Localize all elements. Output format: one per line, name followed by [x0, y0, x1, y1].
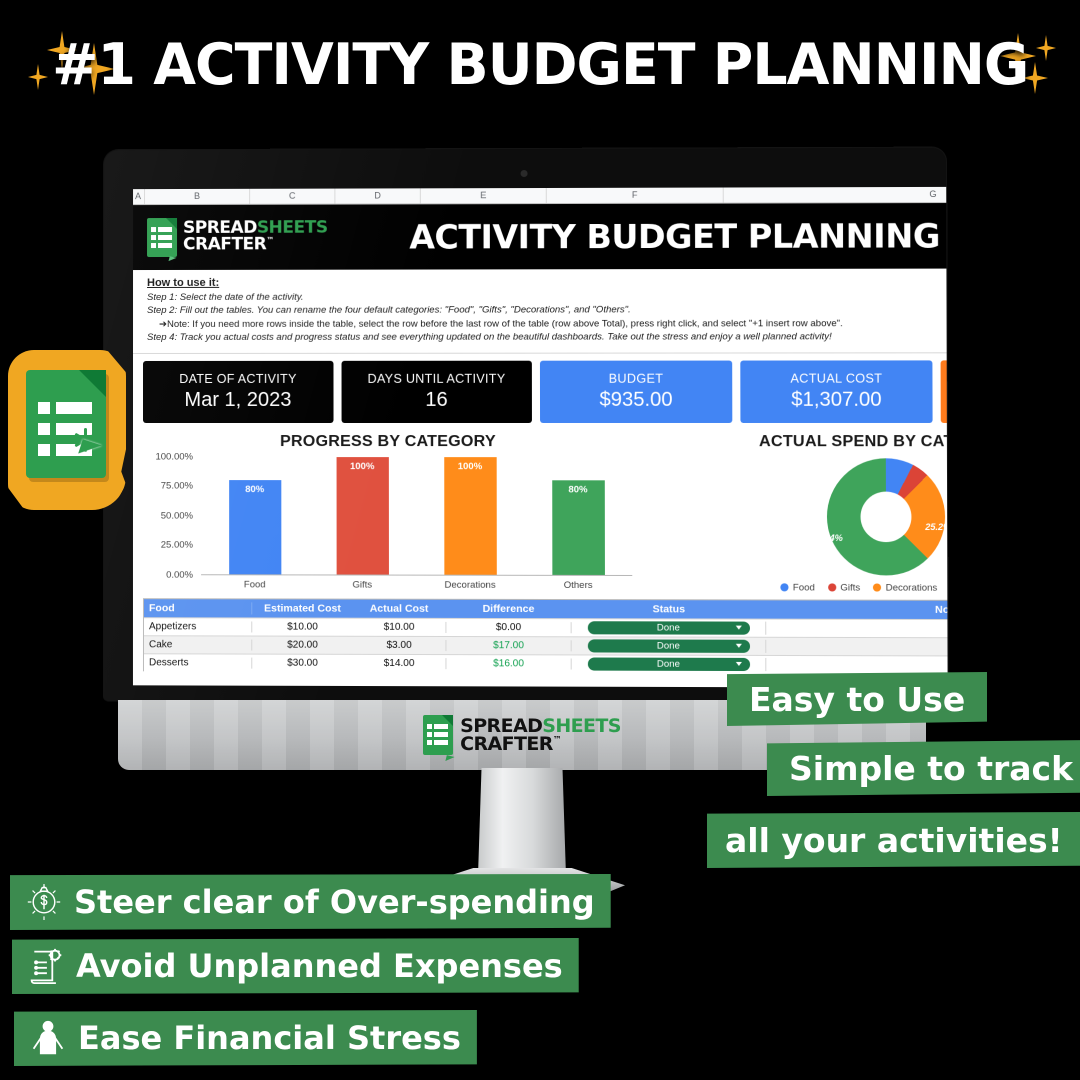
cursor-icon — [446, 755, 455, 763]
y-tick-75: 75.00% — [161, 481, 193, 492]
column-header-a[interactable]: A — [133, 189, 145, 204]
legend-swatch-icon — [873, 584, 881, 592]
cell-status[interactable]: Done — [572, 621, 767, 635]
kpi-value: 16 — [425, 389, 447, 412]
status-dropdown[interactable]: Done — [587, 639, 749, 653]
legend-label: Gifts — [840, 582, 860, 593]
cell-notes[interactable] — [766, 664, 947, 665]
bar-decorations[interactable]: 100% — [444, 457, 497, 575]
banner-text: Avoid Unplanned Expenses — [76, 947, 563, 985]
kpi-row: DATE OF ACTIVITY Mar 1, 2023 DAYS UNTIL … — [133, 353, 948, 431]
legend-swatch-icon — [781, 584, 789, 592]
progress-by-category-chart: PROGRESS BY CATEGORY 0.00% 25.00% 50.00%… — [145, 433, 632, 593]
banner-steer-clear-of-overspending: Steer clear of Over-spending — [10, 874, 611, 930]
cell-status[interactable]: Done — [572, 657, 767, 671]
column-header-c[interactable]: C — [250, 189, 335, 204]
banner-easy-to-use: Easy to Use — [727, 672, 987, 726]
instruction-step-1: Step 1: Select the date of the activity. — [147, 289, 948, 304]
bar-chart-x-axis: Food Gifts Decorations Others — [201, 579, 632, 591]
money-bag-icon — [26, 882, 62, 922]
actual-spend-by-category-chart: ACTUAL SPEND BY CATEGORY 25.2% 62.4% Foo… — [640, 433, 948, 594]
cursor-icon — [169, 256, 177, 263]
y-tick-25: 25.00% — [161, 540, 193, 551]
banner-text: Steer clear of Over-spending — [74, 883, 595, 921]
beer-mugs-icon: 🍻 — [946, 223, 948, 254]
chart-title: ACTUAL SPEND BY CATEGORY — [640, 433, 948, 451]
cell-actual[interactable]: $14.00 — [353, 658, 446, 669]
bar-gifts[interactable]: 100% — [336, 457, 388, 574]
kpi-value: Mar 1, 2023 — [184, 389, 291, 412]
kpi-label: BUDGET — [609, 372, 664, 386]
page-title: ACTIVITY BUDGET PLANNING🍻 — [328, 216, 948, 257]
legend-label: Decorations — [886, 582, 938, 593]
chevron-down-icon — [735, 626, 741, 630]
banner-all-your-activities: all your activities! — [707, 812, 1080, 868]
chart-title: PROGRESS BY CATEGORY — [145, 433, 632, 451]
cell-actual[interactable]: $10.00 — [353, 622, 446, 633]
kpi-label: ACTUAL COST — [790, 371, 882, 385]
column-header-difference[interactable]: Difference — [445, 603, 571, 615]
column-header-d[interactable]: D — [335, 188, 420, 203]
relaxed-person-icon — [30, 1018, 66, 1058]
logo-text-crafter: CRAFTER — [460, 733, 553, 755]
column-header-status[interactable]: Status — [572, 603, 767, 616]
logo-text-sheets: SHEETS — [542, 715, 621, 737]
banner-avoid-unplanned-expenses: Avoid Unplanned Expenses — [12, 938, 579, 994]
kpi-date-of-activity[interactable]: DATE OF ACTIVITY Mar 1, 2023 — [143, 361, 333, 423]
chevron-down-icon — [735, 662, 741, 666]
monitor-neck — [478, 768, 566, 876]
floating-sheets-badge — [8, 350, 126, 510]
trademark-symbol: ™ — [553, 736, 561, 746]
cell-difference[interactable]: $16.00 — [445, 658, 571, 669]
x-tick-food: Food — [229, 579, 281, 590]
bar-wrap-food: 80% — [229, 457, 281, 574]
bar-value-label: 80% — [229, 484, 281, 495]
cell-notes[interactable] — [766, 628, 947, 629]
cell-difference[interactable]: $0.00 — [445, 622, 571, 633]
cell-estimated[interactable]: $10.00 — [252, 621, 353, 632]
cell-category[interactable]: Desserts — [144, 657, 252, 668]
status-label: Done — [657, 640, 680, 651]
column-header-f[interactable]: F — [547, 188, 724, 204]
budget-table: Food Estimated Cost Actual Cost Differen… — [143, 598, 948, 674]
sparkle-icon — [1036, 35, 1056, 61]
x-tick-others: Others — [552, 580, 605, 591]
kpi-label: DATE OF ACTIVITY — [179, 372, 296, 386]
kpi-days-until-activity[interactable]: DAYS UNTIL ACTIVITY 16 — [341, 361, 532, 423]
chevron-down-icon — [735, 644, 741, 648]
instructions-heading: How to use it: — [147, 275, 948, 289]
column-header-e[interactable]: E — [421, 188, 547, 203]
column-header-food[interactable]: Food — [144, 602, 252, 614]
banner-text: Easy to Use — [749, 680, 965, 719]
kpi-label: DAYS UNTIL ACTIVITY — [368, 372, 506, 386]
column-header-b[interactable]: B — [145, 189, 250, 204]
x-tick-decorations: Decorations — [444, 580, 496, 591]
cell-notes[interactable] — [766, 646, 947, 647]
banner-text: all your activities! — [725, 821, 1063, 860]
bar-chart-plot: 80% 100% 100% — [201, 457, 632, 576]
x-tick-gifts: Gifts — [336, 579, 388, 590]
banner-text: Simple to track — [789, 749, 1073, 788]
page-title-text: ACTIVITY BUDGET PLANNING — [409, 216, 940, 256]
donut-label-others: 62.4% — [817, 533, 843, 543]
donut-label-decorations: 25.2% — [925, 522, 947, 532]
bar-value-label: 100% — [336, 461, 388, 472]
headline-banner: #1 ACTIVITY BUDGET PLANNING — [0, 0, 1080, 130]
logo-text-crafter: CRAFTER — [183, 235, 266, 255]
spreadsheets-crafter-logo: SPREADSHEETS CRAFTER™ — [147, 218, 328, 257]
headline-title: #1 ACTIVITY BUDGET PLANNING — [52, 32, 1028, 98]
chin-brand-logo: SPREADSHEETS CRAFTER™ — [423, 715, 621, 755]
bar-value-label: 80% — [552, 485, 605, 496]
kpi-value: $935.00 — [599, 389, 672, 412]
dashboard-charts: PROGRESS BY CATEGORY 0.00% 25.00% 50.00%… — [133, 431, 948, 600]
trademark-symbol: ™ — [266, 236, 274, 245]
cell-status[interactable]: Done — [572, 639, 767, 653]
cell-category[interactable]: Appetizers — [144, 621, 252, 632]
column-header-g[interactable]: G — [724, 187, 948, 203]
bar-others[interactable]: 80% — [552, 481, 605, 575]
kpi-overall-status[interactable]: OVERALL STATUS In Progress — [941, 360, 948, 423]
sheets-document-icon — [423, 715, 453, 755]
kpi-budget[interactable]: BUDGET $935.00 — [540, 360, 732, 422]
table-header-row: Food Estimated Cost Actual Cost Differen… — [144, 599, 948, 619]
monitor-screen: A B C D E F G — [133, 187, 948, 688]
cell-category[interactable]: Cake — [144, 639, 252, 650]
sheets-document-icon — [26, 370, 106, 478]
instruction-step-2: Step 2: Fill out the tables. You can ren… — [147, 303, 948, 318]
sheets-document-icon — [147, 218, 177, 257]
bar-wrap-others: 80% — [552, 457, 605, 575]
column-header-estimated-cost[interactable]: Estimated Cost — [252, 602, 352, 614]
legend-item-gifts[interactable]: Gifts — [828, 582, 860, 593]
column-header-actual-cost[interactable]: Actual Cost — [353, 603, 446, 615]
bar-chart-y-axis: 0.00% 25.00% 50.00% 75.00% 100.00% — [145, 457, 197, 575]
webcam-icon — [520, 170, 527, 177]
status-dropdown[interactable]: Done — [587, 621, 749, 634]
banner-text: Ease Financial Stress — [78, 1019, 461, 1057]
table-row[interactable]: Desserts $30.00 $14.00 $16.00 Done — [144, 653, 948, 674]
sparkle-icon — [28, 64, 48, 90]
monitor-frame: A B C D E F G — [104, 148, 948, 703]
column-header-notes[interactable]: Notes — [766, 603, 947, 616]
sheet-title-band: SPREADSHEETS CRAFTER™ ACTIVITY BUDGET PL… — [133, 203, 948, 271]
status-label: Done — [657, 659, 680, 670]
bar-food[interactable]: 80% — [229, 480, 281, 574]
status-label: Done — [657, 622, 680, 633]
kpi-actual-cost[interactable]: ACTUAL COST $1,307.00 — [740, 360, 933, 423]
cell-estimated[interactable]: $30.00 — [252, 658, 353, 669]
banner-ease-financial-stress: Ease Financial Stress — [14, 1010, 477, 1066]
y-tick-0: 0.00% — [166, 570, 193, 581]
bar-value-label: 100% — [444, 461, 496, 472]
invoice-gear-icon — [28, 946, 64, 986]
cell-estimated[interactable]: $20.00 — [252, 639, 353, 650]
bar-wrap-gifts: 100% — [336, 457, 388, 574]
legend-label: Food — [793, 582, 815, 593]
kpi-value: $1,307.00 — [791, 389, 882, 412]
cell-actual[interactable]: $3.00 — [353, 640, 446, 651]
banner-simple-to-track: Simple to track — [767, 740, 1080, 796]
legend-item-decorations[interactable]: Decorations — [873, 582, 937, 593]
legend-swatch-icon — [828, 584, 836, 592]
instruction-note: ➔Note: If you need more rows inside the … — [147, 317, 948, 332]
status-dropdown[interactable]: Done — [587, 657, 749, 671]
y-tick-100: 100.00% — [155, 451, 193, 462]
donut-plot[interactable]: 25.2% 62.4% — [827, 458, 945, 575]
donut-legend: Food Gifts Decorations Others — [640, 582, 947, 594]
bar-wrap-decorations: 100% — [444, 457, 497, 575]
legend-item-food[interactable]: Food — [781, 582, 815, 593]
instruction-step-4: Step 4: Track you actual costs and progr… — [147, 330, 948, 345]
instructions-block: © 2019-2023 Sprea by www.spread How to u… — [133, 268, 948, 354]
cell-difference[interactable]: $17.00 — [445, 640, 571, 651]
y-tick-50: 50.00% — [161, 511, 193, 522]
